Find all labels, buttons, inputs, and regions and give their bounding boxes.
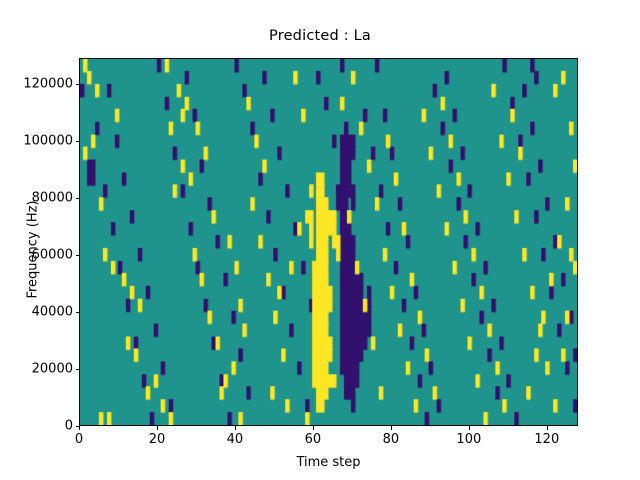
y-tick-label: 120000 [23, 76, 73, 91]
y-tick-mark [76, 426, 80, 427]
x-tick-mark [391, 426, 392, 430]
y-tick-mark [76, 141, 80, 142]
x-tick-label: 120 [534, 432, 559, 447]
x-tick-label: 60 [305, 432, 322, 447]
y-tick-label: 0 [65, 419, 73, 434]
x-tick-mark [79, 426, 80, 430]
page-title: Predicted : La [0, 28, 640, 44]
x-tick-mark [157, 426, 158, 430]
figure-canvas: Predicted : La 0204060801001200200004000… [0, 0, 640, 480]
spectrogram-heatmap [80, 59, 577, 425]
y-tick-mark [76, 255, 80, 256]
y-axis-label: Frequency (Hz) [26, 170, 41, 330]
y-tick-mark [76, 312, 80, 313]
x-tick-label: 0 [75, 432, 83, 447]
heatmap-axes[interactable] [79, 58, 578, 426]
x-tick-mark [235, 426, 236, 430]
x-tick-mark [469, 426, 470, 430]
y-tick-label: 100000 [23, 133, 73, 148]
y-tick-label: 20000 [32, 361, 73, 376]
y-tick-mark [76, 369, 80, 370]
y-tick-mark [76, 198, 80, 199]
x-tick-label: 80 [383, 432, 400, 447]
x-tick-mark [313, 426, 314, 430]
x-tick-mark [547, 426, 548, 430]
x-tick-label: 20 [149, 432, 166, 447]
x-axis-label: Time step [79, 455, 578, 470]
x-tick-label: 100 [456, 432, 481, 447]
x-tick-label: 40 [227, 432, 244, 447]
y-tick-mark [76, 84, 80, 85]
